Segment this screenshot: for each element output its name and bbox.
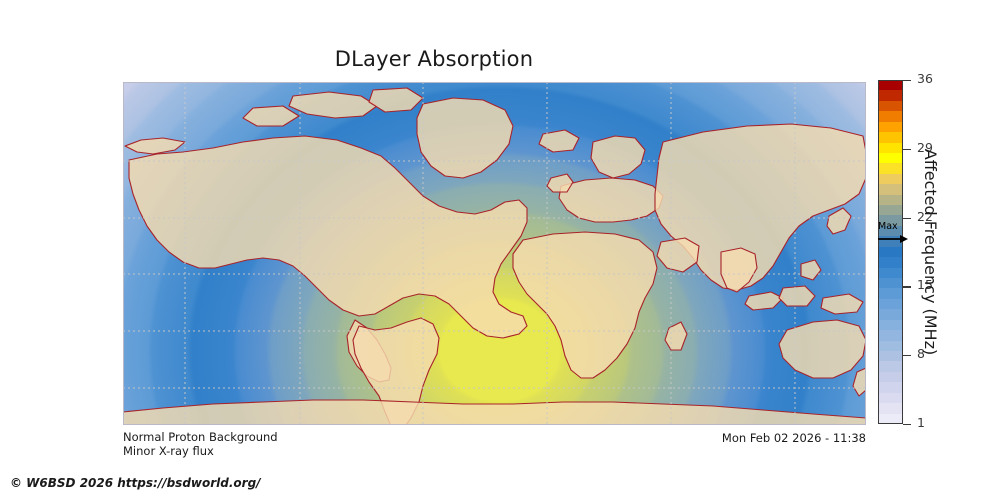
colorbar-segment [878,80,903,90]
proton-status-text: Normal Proton Background [123,430,278,444]
colorbar-tick-mark [903,424,911,425]
europe [559,178,663,222]
colorbar-segment [878,372,903,382]
colorbar-segment [878,320,903,330]
colorbar-segment [878,122,903,132]
colorbar-segment [878,101,903,111]
colorbar-segment [878,195,903,205]
colorbar-segment [878,247,903,257]
colorbar-tick-mark [903,80,911,81]
footer-credit: © W6BSD 2026 https://bsdworld.org/ [10,476,261,490]
colorbar-segment [878,309,903,319]
colorbar-segment [878,341,903,351]
status-annotations: Normal Proton Background Minor X-ray flu… [123,430,278,458]
map-svg [123,82,866,425]
colorbar-segment [878,403,903,413]
colorbar-segment [878,153,903,163]
colorbar-segment [878,330,903,340]
colorbar-segment [878,299,903,309]
colorbar-segment [878,278,903,288]
colorbar-segment [878,163,903,173]
colorbar-segment [878,257,903,267]
colorbar[interactable] [878,80,903,424]
colorbar-tick-mark [903,355,911,356]
colorbar-segment [878,184,903,194]
world-map-plot[interactable] [123,82,866,425]
colorbar-segment [878,143,903,153]
colorbar-segment [878,90,903,100]
colorbar-segment [878,174,903,184]
figure-canvas: DLayer Absorption [0,0,1000,500]
colorbar-segment [878,361,903,371]
colorbar-segment [878,111,903,121]
colorbar-segment [878,382,903,392]
colorbar-segment [878,205,903,215]
timestamp-text: Mon Feb 02 2026 - 11:38 [722,431,866,445]
colorbar-segment [878,414,903,424]
colorbar-segment [878,351,903,361]
colorbar-tick-mark [903,286,911,287]
colorbar-tick: 1 [903,424,973,425]
max-arrow-icon [878,234,908,244]
xray-status-text: Minor X-ray flux [123,444,278,458]
colorbar-segment [878,268,903,278]
max-marker-label: Max [878,221,898,232]
colorbar-segment [878,393,903,403]
colorbar-segment [878,132,903,142]
colorbar-tick-mark [903,218,911,219]
colorbar-tick-mark [903,149,911,150]
colorbar-segment [878,288,903,298]
chart-title: DLayer Absorption [0,47,868,71]
colorbar-axis-label: Affected Frequency (MHz) [920,80,940,424]
